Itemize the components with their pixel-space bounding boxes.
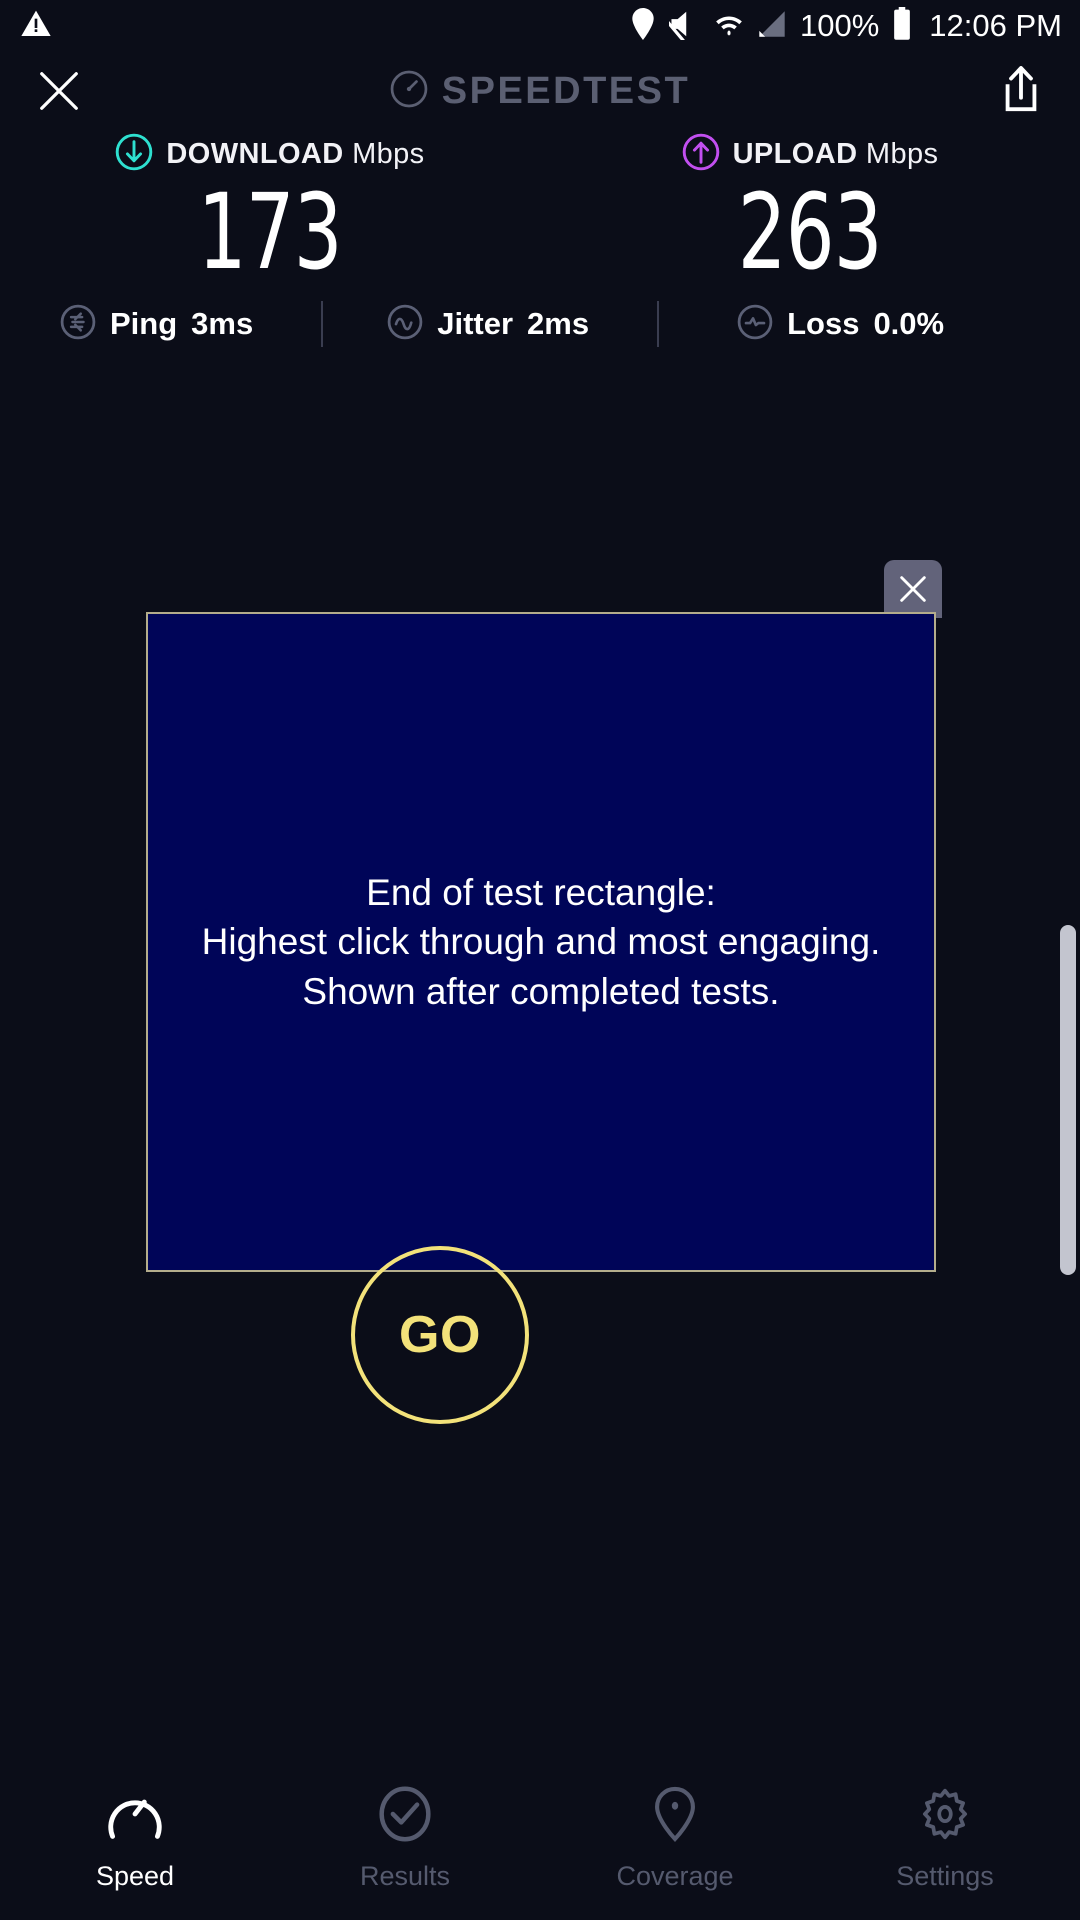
page-title: SPEEDTEST	[442, 70, 690, 113]
location-pin-icon	[630, 8, 656, 45]
speedtest-gauge-icon	[390, 70, 428, 113]
battery-percent-label: 100%	[800, 8, 879, 44]
metric-ping: Ping 3ms	[60, 304, 253, 345]
upload-header: UPLOAD Mbps	[682, 132, 939, 176]
wifi-icon	[714, 8, 744, 45]
ping-value: 3ms	[191, 306, 253, 342]
upload-value: 263	[738, 180, 882, 284]
app-header: SPEEDTEST	[0, 52, 1080, 130]
ad-panel[interactable]: End of test rectangle: Highest click thr…	[146, 612, 936, 1272]
map-pin-icon	[645, 1786, 705, 1847]
nav-label-results: Results	[360, 1861, 450, 1892]
upload-label: UPLOAD Mbps	[733, 138, 939, 171]
status-bar: 100% 12:06 PM	[0, 0, 1080, 52]
nav-label-speed: Speed	[96, 1861, 174, 1892]
metric-loss: Loss 0.0%	[737, 304, 944, 345]
status-bar-right: 100% 12:06 PM	[630, 7, 1062, 46]
ping-label: Ping	[110, 306, 177, 342]
gear-icon	[915, 1786, 975, 1847]
share-icon[interactable]	[992, 59, 1050, 123]
download-arrow-icon	[115, 133, 153, 176]
metrics-row: Ping 3ms Jitter 2ms Loss 0.0%	[0, 296, 1080, 352]
cell-signal-icon	[757, 9, 787, 44]
nav-item-settings[interactable]: Settings	[810, 1770, 1080, 1920]
battery-full-icon	[892, 7, 912, 46]
ad-close-icon[interactable]	[884, 560, 942, 618]
go-button[interactable]: GO	[351, 1246, 529, 1424]
download-label: DOWNLOAD Mbps	[166, 138, 424, 171]
ad-line-1: End of test rectangle:	[202, 868, 881, 918]
nav-item-coverage[interactable]: Coverage	[540, 1770, 810, 1920]
speedometer-icon	[105, 1786, 165, 1847]
loss-value: 0.0%	[873, 306, 944, 342]
app-brand: SPEEDTEST	[330, 70, 750, 113]
nav-label-coverage: Coverage	[616, 1861, 733, 1892]
download-value: 173	[198, 180, 342, 284]
metric-separator	[321, 301, 323, 347]
check-circle-icon	[375, 1786, 435, 1847]
scrollbar-thumb[interactable]	[1060, 925, 1076, 1275]
jitter-label: Jitter	[437, 306, 513, 342]
close-icon[interactable]	[30, 62, 88, 120]
nav-item-speed[interactable]: Speed	[0, 1770, 270, 1920]
go-button-label: GO	[399, 1305, 481, 1365]
loss-label: Loss	[787, 306, 859, 342]
upload-result: UPLOAD Mbps 263	[540, 132, 1080, 284]
speed-results: DOWNLOAD Mbps 173 UPLOAD Mbps 263	[0, 132, 1080, 284]
metric-jitter: Jitter 2ms	[387, 304, 589, 345]
nav-item-results[interactable]: Results	[270, 1770, 540, 1920]
bottom-nav: Speed Results Coverage Settings	[0, 1770, 1080, 1920]
warning-triangle-icon	[20, 8, 52, 45]
ad-line-2: Highest click through and most engaging.	[202, 917, 881, 967]
jitter-value: 2ms	[527, 306, 589, 342]
metric-separator	[657, 301, 659, 347]
jitter-icon	[387, 304, 423, 345]
download-header: DOWNLOAD Mbps	[115, 132, 424, 176]
results-panel: DOWNLOAD Mbps 173 UPLOAD Mbps 263	[0, 132, 1080, 284]
loss-icon	[737, 304, 773, 345]
status-bar-left	[20, 8, 52, 45]
upload-arrow-icon	[682, 133, 720, 176]
ad-text: End of test rectangle: Highest click thr…	[186, 868, 897, 1017]
ad-line-3: Shown after completed tests.	[202, 967, 881, 1017]
ping-icon	[60, 304, 96, 345]
download-result: DOWNLOAD Mbps 173	[0, 132, 540, 284]
nav-label-settings: Settings	[896, 1861, 994, 1892]
mute-icon	[669, 8, 701, 45]
clock-label: 12:06 PM	[929, 8, 1062, 44]
